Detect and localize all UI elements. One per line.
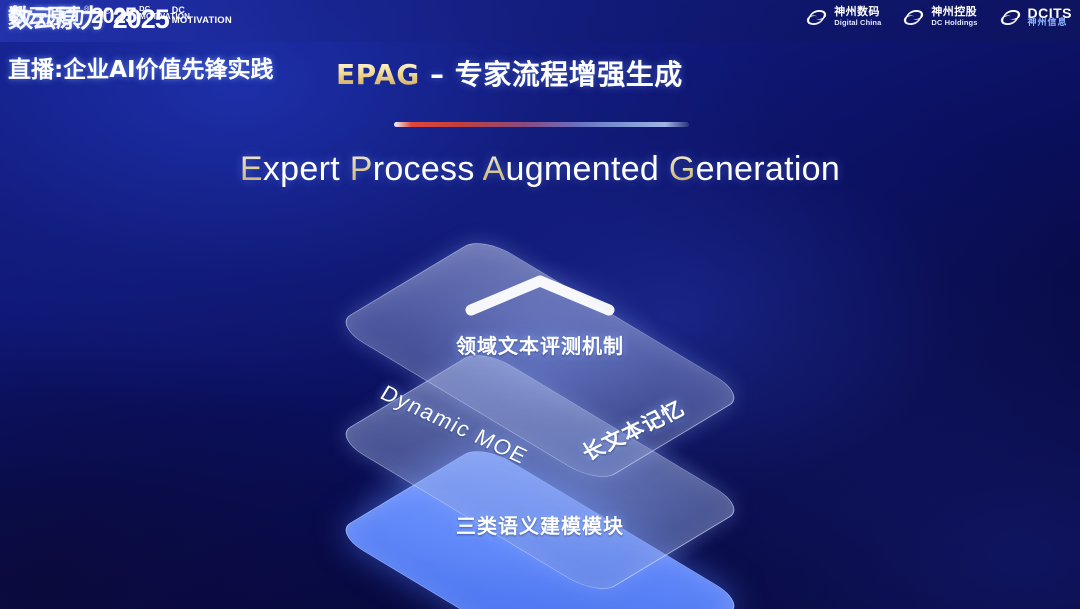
footer-brand-subtitle: DC MOTIVATION	[139, 5, 190, 21]
footer-brand-year: 2025	[91, 4, 136, 28]
footer-brand-name-cn: 数云原力	[8, 4, 84, 28]
footer-brand-logo: 数云原力 ® 2025 DC MOTIVATION	[8, 4, 1070, 605]
footer-brand-subtitle-line2: MOTIVATION	[139, 13, 190, 21]
footer-brand-registered-mark: ®	[84, 4, 89, 15]
slide-canvas: 数云原力 ® 2025 DC MOTIVATION 直播:企业AI价值先锋实践 …	[0, 0, 1080, 609]
